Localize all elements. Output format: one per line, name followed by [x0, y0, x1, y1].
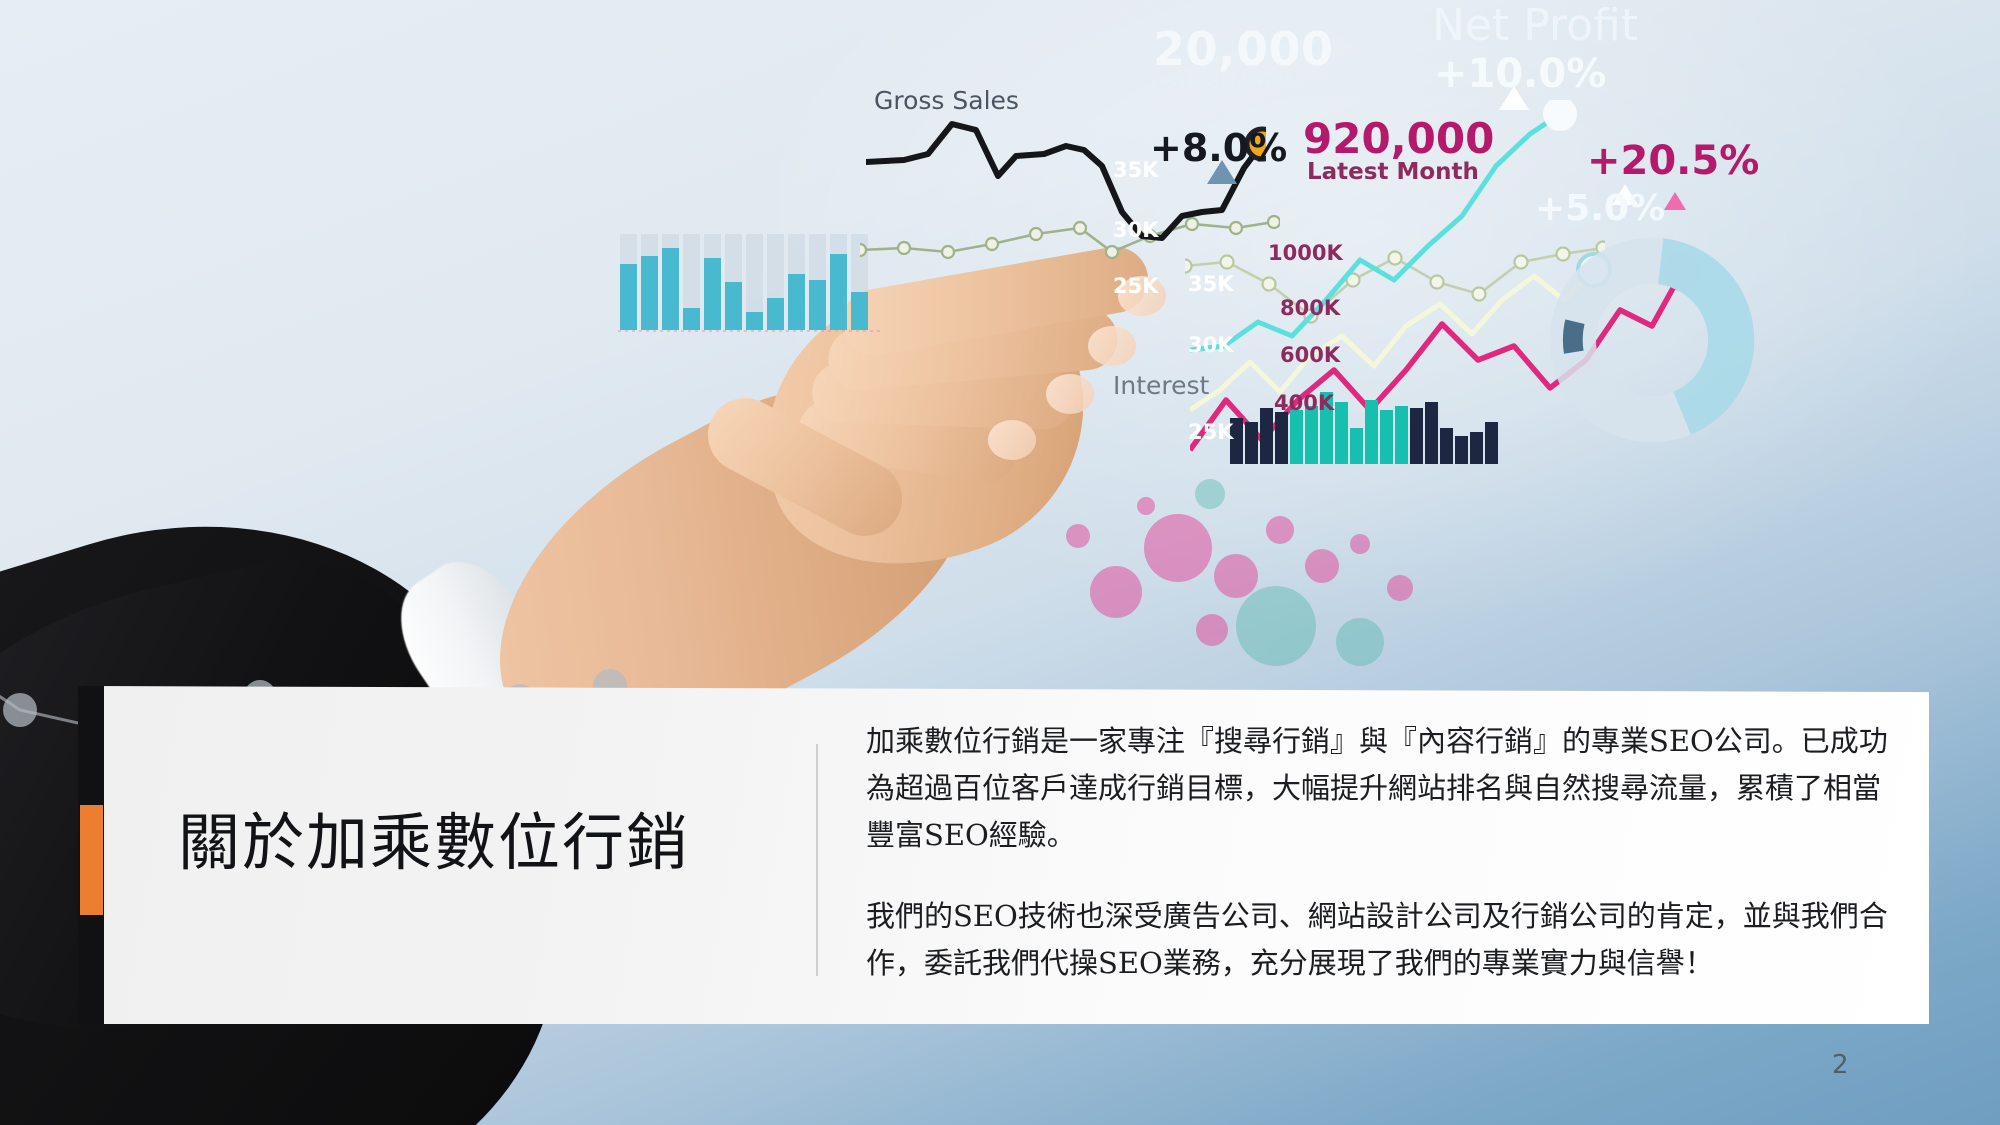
- bubble-cluster: [1060, 470, 1490, 670]
- axis-tick-interest-30k: 30K: [1188, 333, 1234, 357]
- net-profit-bar-chart: [1228, 392, 1498, 464]
- axis-tick-gross-35k: 35K: [1113, 158, 1159, 182]
- metric-pct-10: +10.0%: [1434, 51, 1606, 97]
- axis-tick-gross-25k: 25K: [1113, 274, 1159, 298]
- body-text: 加乘數位行銷是一家專注『搜尋行銷』與『內容行銷』的專業SEO公司。已成功為超過百…: [866, 718, 1891, 987]
- vertical-divider: [816, 744, 818, 976]
- metric-pct-8: +8.0%: [1150, 126, 1287, 170]
- metric-20000-sublabel: Latest Month: [1155, 68, 1305, 94]
- pink-triangle-marker: [1662, 190, 1688, 212]
- share-donut-chart: [1542, 230, 1762, 450]
- axis-tick-interest-35k: 35K: [1188, 272, 1234, 296]
- metric-pct-20-5: +20.5%: [1587, 138, 1759, 184]
- net-profit-label: Net Profit: [1432, 0, 1638, 51]
- gross-sales-label: Gross Sales: [874, 86, 1019, 115]
- metric-920000-sublabel: Latest Month: [1307, 159, 1479, 185]
- metric-pct-5: +5.0%: [1535, 188, 1665, 229]
- axis-tick-interest-25k: 25K: [1188, 420, 1234, 444]
- axis-tick-revenue-600k: 600K: [1280, 343, 1340, 367]
- axis-tick-revenue-800k: 800K: [1280, 296, 1340, 320]
- body-paragraph: 加乘數位行銷是一家專注『搜尋行銷』與『內容行銷』的專業SEO公司。已成功為超過百…: [866, 718, 1891, 859]
- interest-bar-chart: [618, 228, 898, 336]
- page-title: 關於加乘數位行銷: [178, 792, 778, 882]
- metric-920000-value: 920,000: [1303, 114, 1494, 163]
- page-number: 2: [1832, 1050, 1849, 1080]
- axis-tick-revenue-1000k: 1000K: [1268, 241, 1343, 265]
- interest-label: Interest: [1113, 371, 1209, 400]
- title-accent-bar: [80, 805, 103, 915]
- axis-tick-revenue-400k: 400K: [1274, 391, 1334, 415]
- slide-root: Gross Sales Interest 20,000 Latest Month…: [0, 0, 2000, 1125]
- body-paragraph: 我們的SEO技術也深受廣告公司、網站設計公司及行銷公司的肯定，並與我們合作，委託…: [866, 893, 1891, 987]
- axis-tick-gross-30k: 30K: [1113, 218, 1159, 242]
